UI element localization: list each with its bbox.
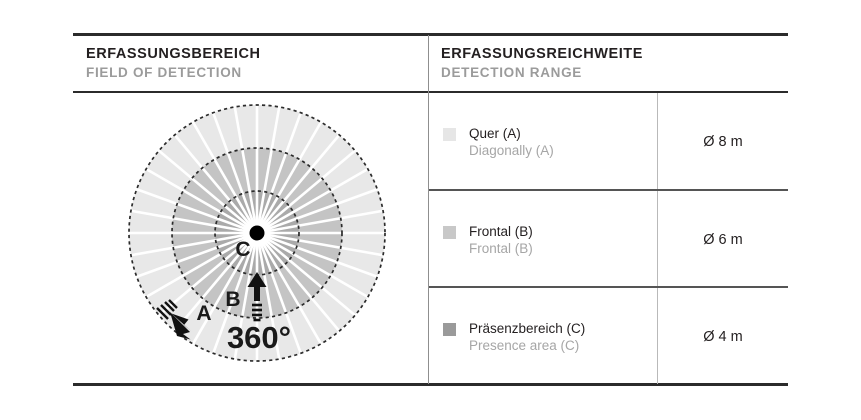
header-title-en: DETECTION RANGE <box>441 64 643 82</box>
legend-swatch-c <box>443 323 456 336</box>
legend-label-de: Frontal (B) <box>469 224 533 239</box>
detection-range-figure: ERFASSUNGSBEREICH FIELD OF DETECTION ERF… <box>0 0 861 420</box>
range-value: Ø 8 m <box>703 134 742 150</box>
legend-swatch-a <box>443 128 456 141</box>
zone-label-a: A <box>196 302 211 325</box>
table-row: Quer (A) Diagonally (A) <box>429 93 657 190</box>
legend-swatch-b <box>443 226 456 239</box>
legend-label-en: Diagonally (A) <box>469 143 554 158</box>
header-title-en: FIELD OF DETECTION <box>86 64 261 82</box>
table-row: Frontal (B) Frontal (B) <box>429 191 657 288</box>
range-value-cell: Ø 8 m <box>658 93 788 190</box>
legend-label-en: Presence area (C) <box>469 338 579 353</box>
range-value: Ø 6 m <box>703 232 742 248</box>
legend-label-de: Quer (A) <box>469 126 521 141</box>
column-header-detection-range: ERFASSUNGSREICHWEITE DETECTION RANGE <box>441 45 643 82</box>
range-value: Ø 4 m <box>703 329 742 345</box>
angle-label: 360° <box>227 320 291 355</box>
table-top-rule <box>73 33 788 36</box>
zone-label-c: C <box>235 238 250 261</box>
table-row: Präsenzbereich (C) Presence area (C) <box>429 288 657 385</box>
header-title-de: ERFASSUNGSBEREICH <box>86 45 261 63</box>
zone-label-b: B <box>225 288 240 311</box>
legend-label-en: Frontal (B) <box>469 241 533 256</box>
sensor-center-dot <box>250 226 265 241</box>
range-value-cell: Ø 6 m <box>658 191 788 288</box>
column-header-field-of-detection: ERFASSUNGSBEREICH FIELD OF DETECTION <box>86 45 261 82</box>
header-title-de: ERFASSUNGSREICHWEITE <box>441 45 643 63</box>
legend-label-de: Präsenzbereich (C) <box>469 321 585 336</box>
range-value-cell: Ø 4 m <box>658 288 788 385</box>
detection-zone-diagram: C B <box>73 93 428 383</box>
